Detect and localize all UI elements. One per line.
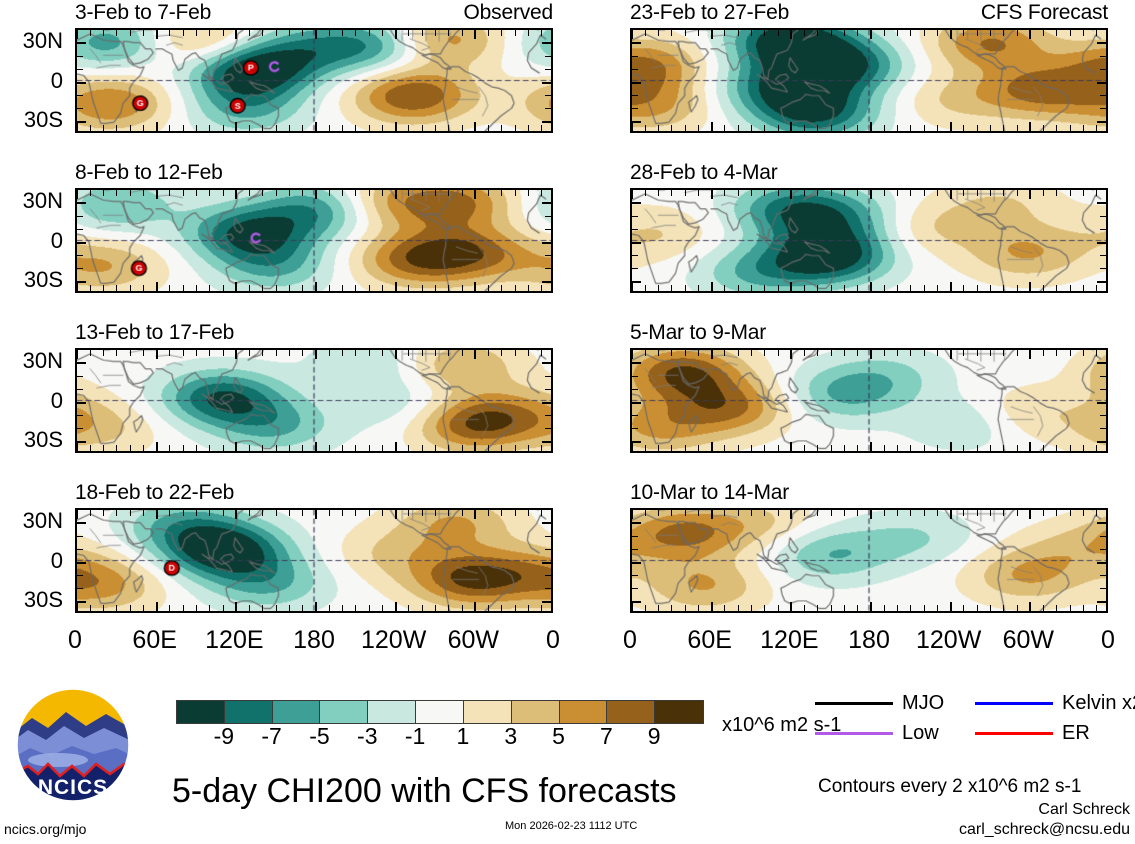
legend-item-er: ER <box>975 722 1090 744</box>
colorbar-segment <box>607 701 655 723</box>
x-tick <box>977 510 978 516</box>
x-tick <box>515 605 516 611</box>
x-tick <box>857 510 858 516</box>
svg-text:NCICS: NCICS <box>38 776 108 799</box>
y-tick <box>545 56 551 57</box>
x-tick <box>143 125 144 131</box>
x-tick <box>870 122 872 131</box>
x-tick <box>462 125 463 131</box>
x-axis-label: 120E <box>760 627 818 653</box>
x-tick <box>103 125 104 131</box>
x-tick <box>990 285 991 291</box>
x-tick <box>990 605 991 611</box>
x-tick <box>528 190 529 196</box>
panel-title-obs-3: 13-Feb to 17-Feb <box>75 322 234 344</box>
x-tick <box>209 30 210 36</box>
y-tick <box>542 121 551 123</box>
x-tick <box>963 605 964 611</box>
x-tick <box>937 445 938 451</box>
x-tick <box>169 30 170 36</box>
y-axis-label: 30N <box>23 510 63 532</box>
x-tick <box>631 602 633 611</box>
y-axis-label: 30S <box>24 269 63 291</box>
x-tick <box>183 605 184 611</box>
x-tick <box>541 445 542 451</box>
x-tick <box>645 445 646 451</box>
x-tick <box>698 125 699 131</box>
x-tick <box>685 350 686 356</box>
colorbar-tick-label: 1 <box>457 724 470 748</box>
colorbar-segment <box>416 701 464 723</box>
y-tick <box>1100 415 1106 416</box>
x-tick <box>924 350 925 356</box>
x-tick <box>1017 445 1018 451</box>
y-tick <box>77 428 83 429</box>
y-tick <box>545 389 551 390</box>
colorbar-tick-label: -7 <box>261 724 281 748</box>
y-tick <box>1097 121 1106 123</box>
x-tick <box>183 190 184 196</box>
x-tick <box>857 125 858 131</box>
x-axis-label: 60W <box>448 627 499 653</box>
x-tick <box>276 350 277 356</box>
y-tick <box>77 415 83 416</box>
x-tick <box>209 190 210 196</box>
x-tick <box>870 282 872 291</box>
x-tick <box>724 30 725 36</box>
colorbar-tick-label: 5 <box>552 724 565 748</box>
y-tick <box>545 428 551 429</box>
x-tick <box>355 285 356 291</box>
x-tick <box>130 125 131 131</box>
x-tick <box>870 510 872 519</box>
x-tick <box>515 285 516 291</box>
x-tick <box>315 350 317 359</box>
x-tick <box>369 445 370 451</box>
x-tick <box>342 285 343 291</box>
site-url: ncics.org/mjo <box>4 821 86 837</box>
y-tick <box>545 229 551 230</box>
x-tick <box>235 350 237 359</box>
y-tick <box>632 588 638 589</box>
x-tick <box>711 122 713 131</box>
y-axis-label: 0 <box>51 230 63 252</box>
x-tick <box>355 125 356 131</box>
x-tick <box>435 510 436 516</box>
x-tick <box>631 350 633 359</box>
x-tick <box>937 510 938 516</box>
x-tick <box>448 285 449 291</box>
x-tick <box>395 510 397 519</box>
x-tick <box>924 30 925 36</box>
y-tick <box>542 441 551 443</box>
x-tick <box>235 282 237 291</box>
x-tick <box>831 30 832 36</box>
x-tick <box>169 605 170 611</box>
x-tick <box>169 190 170 196</box>
x-tick <box>1056 445 1057 451</box>
panel-title-obs-2: 8-Feb to 12-Feb <box>75 162 223 184</box>
y-tick <box>77 441 86 443</box>
y-tick <box>1100 255 1106 256</box>
x-tick <box>116 510 117 516</box>
x-tick <box>1056 510 1057 516</box>
x-tick <box>408 190 409 196</box>
x-tick <box>369 350 370 356</box>
x-tick <box>990 510 991 516</box>
x-tick <box>408 350 409 356</box>
x-tick <box>90 30 91 36</box>
x-axis-label: 120W <box>916 627 981 653</box>
x-tick <box>1056 605 1057 611</box>
x-tick <box>751 190 752 196</box>
colorbar: -9-7-5-3-113579 <box>176 700 702 756</box>
x-tick <box>804 190 805 196</box>
x-axis-label: 0 <box>546 627 560 653</box>
x-tick <box>249 350 250 356</box>
x-tick <box>183 510 184 516</box>
x-tick <box>778 285 779 291</box>
colorbar-segment <box>368 701 416 723</box>
y-axis-label: 0 <box>51 70 63 92</box>
x-tick <box>645 350 646 356</box>
x-tick <box>395 122 397 131</box>
x-tick <box>342 510 343 516</box>
y-tick <box>632 69 638 70</box>
x-tick <box>1017 125 1018 131</box>
x-tick <box>262 125 263 131</box>
y-tick <box>632 536 638 537</box>
map-panel-obs-3: 13-Feb to 17-Feb <box>75 348 553 453</box>
x-tick <box>488 125 489 131</box>
colorbar-tick-label: -5 <box>309 724 329 748</box>
x-tick <box>844 510 845 516</box>
y-tick <box>1097 362 1106 364</box>
x-tick <box>790 30 792 39</box>
x-tick <box>130 510 131 516</box>
x-tick <box>897 190 898 196</box>
x-tick <box>778 605 779 611</box>
x-tick <box>963 510 964 516</box>
x-tick <box>844 605 845 611</box>
x-tick <box>116 445 117 451</box>
y-tick <box>77 588 83 589</box>
x-tick <box>897 125 898 131</box>
x-tick <box>1043 350 1044 356</box>
x-tick <box>817 285 818 291</box>
colorbar-tick-label: -1 <box>405 724 425 748</box>
x-tick <box>790 442 792 451</box>
x-tick <box>90 285 91 291</box>
x-tick <box>143 30 144 36</box>
x-tick <box>422 285 423 291</box>
x-tick <box>1056 30 1057 36</box>
x-tick <box>515 510 516 516</box>
y-tick <box>632 281 641 283</box>
x-tick <box>474 350 476 359</box>
x-tick <box>76 30 78 39</box>
y-tick <box>632 82 641 84</box>
x-tick <box>963 445 964 451</box>
y-tick <box>632 229 638 230</box>
x-tick <box>910 285 911 291</box>
map-panel-obs-4: 18-Feb to 22-Feb <box>75 508 553 613</box>
x-tick <box>1056 190 1057 196</box>
x-tick <box>1003 125 1004 131</box>
x-tick <box>844 190 845 196</box>
x-tick <box>658 350 659 356</box>
y-tick <box>542 402 551 404</box>
x-tick <box>369 190 370 196</box>
x-tick <box>262 445 263 451</box>
y-tick <box>77 281 86 283</box>
x-tick <box>977 445 978 451</box>
y-axis-label: 0 <box>51 550 63 572</box>
x-tick <box>196 510 197 516</box>
x-tick <box>315 190 317 199</box>
y-tick <box>632 268 638 269</box>
y-tick <box>632 415 638 416</box>
x-tick <box>817 190 818 196</box>
x-tick <box>103 445 104 451</box>
panel-title-obs-1: 3-Feb to 7-Feb <box>75 2 211 24</box>
x-tick <box>183 30 184 36</box>
x-tick <box>738 445 739 451</box>
x-tick <box>528 350 529 356</box>
x-tick <box>645 190 646 196</box>
x-tick <box>764 350 765 356</box>
x-tick <box>950 510 952 519</box>
x-tick <box>977 605 978 611</box>
x-tick <box>143 510 144 516</box>
x-tick <box>977 30 978 36</box>
x-tick <box>631 190 633 199</box>
x-tick <box>169 125 170 131</box>
x-tick <box>724 285 725 291</box>
x-tick <box>143 285 144 291</box>
x-tick <box>844 445 845 451</box>
x-tick <box>897 445 898 451</box>
x-tick <box>90 510 91 516</box>
x-tick <box>395 30 397 39</box>
legend-line-swatch <box>975 702 1053 705</box>
y-tick <box>542 562 551 564</box>
x-tick <box>488 285 489 291</box>
x-tick <box>116 350 117 356</box>
x-tick <box>528 30 529 36</box>
x-tick <box>90 190 91 196</box>
colorbar-segment <box>512 701 560 723</box>
x-tick <box>329 30 330 36</box>
x-tick <box>924 125 925 131</box>
x-tick <box>276 605 277 611</box>
x-tick <box>223 605 224 611</box>
x-tick <box>342 350 343 356</box>
y-tick <box>1100 216 1106 217</box>
x-tick <box>950 30 952 39</box>
x-tick <box>658 605 659 611</box>
x-tick <box>315 602 317 611</box>
x-tick <box>990 30 991 36</box>
legend-item-mjo: MJO <box>815 692 944 714</box>
x-tick <box>977 125 978 131</box>
x-tick <box>369 510 370 516</box>
x-tick <box>196 445 197 451</box>
x-tick <box>501 605 502 611</box>
x-tick <box>116 605 117 611</box>
x-tick <box>76 510 78 519</box>
x-tick <box>249 510 250 516</box>
x-tick <box>395 442 397 451</box>
x-tick <box>924 510 925 516</box>
x-tick <box>302 285 303 291</box>
x-tick <box>448 125 449 131</box>
x-tick <box>422 445 423 451</box>
x-tick <box>209 125 210 131</box>
x-tick <box>382 30 383 36</box>
y-tick <box>542 601 551 603</box>
x-tick <box>1070 350 1071 356</box>
x-tick <box>315 510 317 519</box>
x-tick <box>1096 190 1097 196</box>
x-tick <box>329 605 330 611</box>
x-tick <box>924 605 925 611</box>
map-panel-cfs-3: 5-Mar to 9-Mar <box>630 348 1108 453</box>
x-tick <box>724 190 725 196</box>
x-tick <box>156 602 158 611</box>
x-tick <box>817 510 818 516</box>
map-frame-cfs-4 <box>630 508 1108 613</box>
x-tick <box>156 122 158 131</box>
panel-title-cfs-2: 28-Feb to 4-Mar <box>630 162 778 184</box>
x-tick <box>355 30 356 36</box>
x-tick <box>897 605 898 611</box>
x-tick <box>937 190 938 196</box>
y-tick <box>632 42 641 44</box>
x-tick <box>408 30 409 36</box>
map-panel-cfs-2: 28-Feb to 4-Mar <box>630 188 1108 293</box>
y-tick <box>1097 402 1106 404</box>
x-tick <box>116 30 117 36</box>
x-tick <box>658 30 659 36</box>
x-tick <box>223 510 224 516</box>
x-tick <box>262 285 263 291</box>
y-tick <box>77 121 86 123</box>
x-tick <box>355 510 356 516</box>
y-axis-label: 30N <box>23 30 63 52</box>
x-tick <box>223 285 224 291</box>
x-tick <box>435 190 436 196</box>
y-tick <box>632 402 641 404</box>
x-tick <box>1070 125 1071 131</box>
x-tick <box>910 190 911 196</box>
x-tick <box>1056 125 1057 131</box>
y-tick <box>77 402 86 404</box>
y-tick <box>632 216 638 217</box>
y-tick <box>632 389 638 390</box>
x-tick <box>658 285 659 291</box>
x-tick <box>1043 605 1044 611</box>
x-tick <box>963 285 964 291</box>
panel-title-cfs-4: 10-Mar to 14-Mar <box>630 482 789 504</box>
x-tick <box>790 510 792 519</box>
x-tick <box>685 190 686 196</box>
x-tick <box>143 190 144 196</box>
x-tick <box>844 125 845 131</box>
x-tick <box>262 30 263 36</box>
x-tick <box>1096 125 1097 131</box>
y-tick <box>1100 376 1106 377</box>
x-tick <box>355 445 356 451</box>
x-tick <box>950 350 952 359</box>
legend-label: Kelvin x2 <box>1062 692 1135 714</box>
map-field-obs-3 <box>77 350 551 451</box>
map-field-obs-1 <box>77 30 551 131</box>
x-tick <box>977 190 978 196</box>
x-tick <box>857 30 858 36</box>
x-tick <box>937 605 938 611</box>
x-tick <box>1029 602 1031 611</box>
x-tick <box>183 285 184 291</box>
x-tick <box>1096 605 1097 611</box>
x-tick <box>528 125 529 131</box>
x-tick <box>116 285 117 291</box>
y-tick <box>1100 69 1106 70</box>
contour-note: Contours every 2 x10^6 m2 s-1 <box>818 776 1081 798</box>
x-tick <box>355 350 356 356</box>
map-field-obs-2 <box>77 190 551 291</box>
y-tick <box>1100 549 1106 550</box>
colorbar-segment <box>464 701 512 723</box>
x-tick <box>724 125 725 131</box>
x-tick <box>488 510 489 516</box>
x-tick <box>698 350 699 356</box>
x-tick <box>884 125 885 131</box>
x-tick <box>90 125 91 131</box>
x-tick <box>209 510 210 516</box>
x-tick <box>329 285 330 291</box>
x-tick <box>1017 285 1018 291</box>
x-axis-label: 60E <box>132 627 176 653</box>
x-tick <box>156 510 158 519</box>
x-tick <box>790 602 792 611</box>
legend-item-low: Low <box>815 722 939 744</box>
y-tick <box>545 536 551 537</box>
x-tick <box>685 605 686 611</box>
x-tick <box>1003 605 1004 611</box>
x-tick <box>289 190 290 196</box>
x-tick <box>1029 122 1031 131</box>
x-tick <box>462 30 463 36</box>
x-tick <box>751 125 752 131</box>
y-tick <box>1100 389 1106 390</box>
x-tick <box>130 445 131 451</box>
x-tick <box>223 125 224 131</box>
x-tick <box>289 285 290 291</box>
x-tick <box>724 445 725 451</box>
x-tick <box>408 605 409 611</box>
map-panel-obs-2: 8-Feb to 12-Feb <box>75 188 553 293</box>
y-tick <box>77 376 83 377</box>
y-tick <box>1097 281 1106 283</box>
x-tick <box>884 510 885 516</box>
x-tick <box>738 30 739 36</box>
x-tick <box>857 190 858 196</box>
x-tick <box>342 125 343 131</box>
x-tick <box>462 445 463 451</box>
x-tick <box>329 125 330 131</box>
x-tick <box>631 510 633 519</box>
